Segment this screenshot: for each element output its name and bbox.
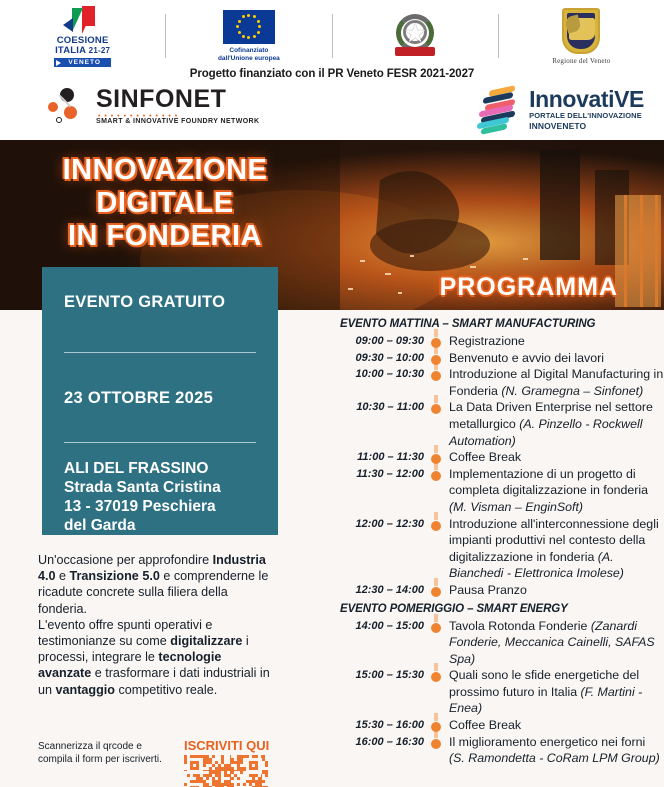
program-time: 09:30 – 10:00 [338,350,430,367]
free-event-label: EVENTO GRATUITO [64,293,256,312]
program-time: 14:00 – 15:00 [338,618,430,635]
divider [64,442,256,443]
eu-star-icon [236,25,239,28]
qr-instructions: Scannerizza il qrcode e compila il form … [38,738,184,787]
program-title: Introduzione all'interconnessione degli … [444,516,664,582]
program-time: 15:00 – 15:30 [338,667,430,684]
eu-flag-icon [223,10,275,44]
program-row: 14:00 – 15:00Tavola Rotonda Fonderie (Za… [338,618,664,668]
program-title: Tavola Rotonda Fonderie (Zanardi Fonderi… [444,618,664,668]
event-poster: COESIONE ITALIA 21-27 VENETO Cofinanziat… [0,0,664,787]
innoveneto-label: INNOVENETO [529,121,644,131]
program-speaker: (N. Gramegna – Sinfonet) [501,384,643,398]
timeline-dot-icon [431,722,441,732]
desc-p2-b1: digitalizzare [170,634,242,648]
program-row: 15:00 – 15:30Quali sono le sfide energet… [338,667,664,717]
program-speaker: (F. Martini - Enea) [449,685,642,716]
timeline-dot-icon [431,672,441,682]
desc-p2-post: competitivo reale. [115,683,217,697]
programma-heading: PROGRAMMA [440,273,618,302]
timeline-dot-icon [431,454,441,464]
eu-star-icon [242,35,245,38]
timeline-dot-icon [431,338,441,348]
program-time: 11:00 – 11:30 [338,449,430,466]
registration-block: Scannerizza il qrcode e compila il form … [38,738,318,787]
timeline-dot-icon [431,739,441,749]
program-time: 12:30 – 14:00 [338,582,430,599]
program-speaker: (S. Ramondetta - CoRam LPM Group) [449,751,660,765]
desc-p1-mid: e [56,569,70,583]
institutional-logos-row: COESIONE ITALIA 21-27 VENETO Cofinanziat… [0,6,664,66]
program-row: 12:00 – 12:30Introduzione all'interconne… [338,516,664,582]
innovative-wordmark: InnovatiVE [529,87,644,111]
eu-star-icon [253,15,256,18]
program-row: 12:30 – 14:00Pausa Pranzo [338,582,664,599]
program-row: 15:30 – 16:00Coffee Break [338,717,664,734]
eu-cofunding-label: Cofinanziato dall'Unione europea [218,47,280,63]
event-description: Un'occasione per approfondire Industria … [38,552,276,698]
innovative-spiral-icon [475,86,521,132]
program-title: Introduzione al Digital Manufacturing in… [444,366,664,399]
event-date: 23 OTTOBRE 2025 [64,389,256,408]
timeline-dot-icon [431,587,441,597]
eu-star-icon [242,15,245,18]
eu-star-icon [238,31,241,34]
program-title: Registrazione [444,333,664,350]
eu-flag-logo: Cofinanziato dall'Unione europea [166,10,331,63]
program-speaker: (M. Visman – EnginSoft) [449,500,583,514]
sinfonet-wordmark: SINFONET [96,87,259,112]
sinfonet-logo: SINFONET • • • • • • • • • • • • • SMART… [46,86,259,126]
coesione-region-badge: VENETO [54,58,111,67]
event-info-box: EVENTO GRATUITO 23 OTTOBRE 2025 ALI DEL … [42,267,278,535]
italian-republic-emblem-icon: ★ [393,10,437,62]
program-row: 11:30 – 12:00Implementazione di un proge… [338,466,664,516]
eu-star-icon [247,14,250,17]
timeline-dot-icon [431,371,441,381]
eu-star-icon [257,20,260,23]
program-row: 10:00 – 10:30Introduzione al Digital Man… [338,366,664,399]
timeline-dot-icon [431,404,441,414]
program-title: La Data Driven Enterprise nel settore me… [444,399,664,449]
program-time: 10:30 – 11:00 [338,399,430,416]
program-speaker: (A. Bianchedi - Elettronica Imolese) [449,550,624,581]
eu-star-icon [253,35,256,38]
sinfonet-network-icon [46,86,92,126]
program-title: Coffee Break [444,449,664,466]
qr-code[interactable] [184,755,268,787]
veneto-label: Regione del Veneto [552,57,610,65]
program-time: 11:30 – 12:00 [338,466,430,483]
program-title: Benvenuto e avvio dei lavori [444,350,664,367]
coesione-italia-logo: COESIONE ITALIA 21-27 VENETO [0,6,165,67]
desc-p2-b3: vantaggio [56,683,115,697]
sinfonet-tagline: SMART & INNOVATIVE FOUNDRY NETWORK [96,118,259,125]
event-venue: ALI DEL FRASSINO Strada Santa Cristina 1… [64,459,256,535]
eu-star-icon [247,36,250,39]
program-row: 10:30 – 11:00La Data Driven Enterprise n… [338,399,664,449]
timeline-dot-icon [431,623,441,633]
program-speaker: (A. Pinzello - Rockwell Automation) [449,417,643,448]
funding-note: Progetto finanziato con il PR Veneto FES… [0,68,664,80]
eu-star-icon [258,25,261,28]
timeline-dot-icon [431,355,441,365]
register-cta-label: ISCRIVITI QUI [184,738,284,753]
program-speaker: (Zanardi Fonderie, Meccanica Cainelli, S… [449,619,655,666]
program-time: 09:00 – 09:30 [338,333,430,350]
program-row: 16:00 – 16:30Il miglioramento energetico… [338,734,664,767]
coesione-arrow-icon [60,6,106,34]
timeline-dot-icon [431,471,441,481]
program-time: 10:00 – 10:30 [338,366,430,383]
eu-star-icon [257,31,260,34]
program-title: Pausa Pranzo [444,582,664,599]
program-row: 09:30 – 10:00Benvenuto e avvio dei lavor… [338,350,664,367]
program-schedule: EVENTO MATTINA – SMART MANUFACTURING09:0… [338,318,664,767]
desc-p1-pre: Un'occasione per approfondire [38,553,213,567]
repubblica-italiana-emblem: ★ [333,10,498,62]
desc-p1-b2: Transizione 5.0 [70,569,160,583]
program-section-heading: EVENTO POMERIGGIO – SMART ENERGY [340,603,664,615]
sponsor-logo-bar: COESIONE ITALIA 21-27 VENETO Cofinanziat… [0,0,664,140]
innovative-subtitle: PORTALE DELL'INNOVAZIONE [529,111,644,120]
eu-star-icon [238,20,241,23]
program-title: Coffee Break [444,717,664,734]
program-time: 12:00 – 12:30 [338,516,430,533]
coesione-label: COESIONE ITALIA 21-27 [55,36,110,56]
program-time: 16:00 – 16:30 [338,734,430,751]
program-section-heading: EVENTO MATTINA – SMART MANUFACTURING [340,318,664,330]
program-title: Implementazione di un progetto di comple… [444,466,664,516]
veneto-lion-icon [562,8,600,54]
divider [64,352,256,353]
partner-logos-row: SINFONET • • • • • • • • • • • • • SMART… [0,86,664,136]
program-title: Quali sono le sfide energetiche del pros… [444,667,664,717]
poster-title: INNOVAZIONE DIGITALE IN FONDERIA [0,154,330,253]
program-row: 11:00 – 11:30Coffee Break [338,449,664,466]
program-time: 15:30 – 16:00 [338,717,430,734]
program-title: Il miglioramento energetico nei forni (S… [444,734,664,767]
program-row: 09:00 – 09:30Registrazione [338,333,664,350]
innovative-logo: InnovatiVE PORTALE DELL'INNOVAZIONE INNO… [475,86,644,132]
regione-veneto-logo: Regione del Veneto [499,8,664,65]
sinfonet-dot-rule: • • • • • • • • • • • • • [98,113,259,117]
timeline-dot-icon [431,521,441,531]
